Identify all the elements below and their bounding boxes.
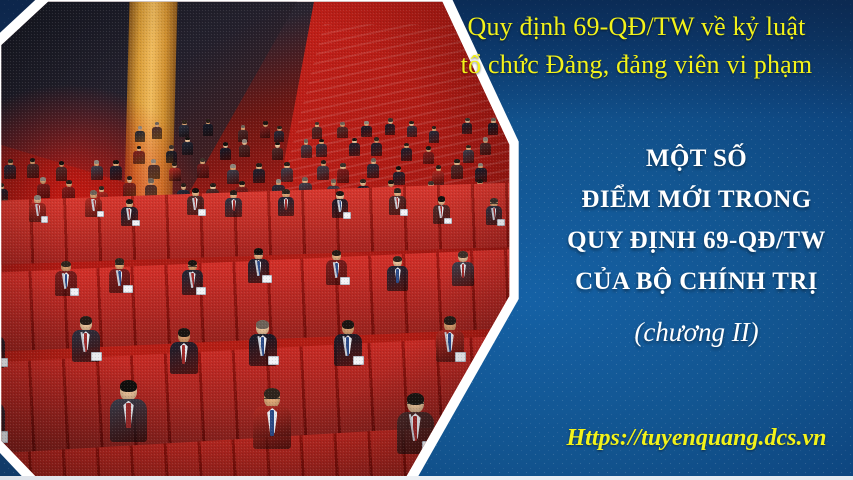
crowd-person-hair: [120, 380, 137, 392]
crowd-person-badge: [422, 441, 436, 453]
crowd-person-tie: [126, 403, 130, 428]
crowd-person-glasses: [264, 398, 281, 402]
main-title-line-1: MỘT SỐ: [540, 138, 853, 179]
crowd-person-badge: [0, 431, 8, 443]
crowd-person-glasses: [407, 403, 424, 407]
headline-block: Quy định 69-QĐ/TW về kỷ luật tổ chức Đản…: [424, 8, 849, 84]
website-url[interactable]: Https://tuyenquang.dcs.vn: [540, 425, 853, 452]
bottom-strip: [0, 476, 853, 480]
chapter-label: (chương II): [540, 312, 853, 352]
main-title-line-2: ĐIỂM MỚI TRONG: [540, 179, 853, 220]
crowd-person-tie: [270, 410, 274, 435]
main-title-line-4: CỦA BỘ CHÍNH TRỊ: [540, 261, 853, 302]
main-title-block: MỘT SỐ ĐIỂM MỚI TRONG QUY ĐỊNH 69-QĐ/TW …: [540, 138, 853, 302]
headline-line-2: tổ chức Đảng, đảng viên vi phạm: [424, 46, 849, 84]
poster-canvas: Quy định 69-QĐ/TW về kỷ luật tổ chức Đản…: [0, 0, 853, 480]
main-title-line-3: QUY ĐỊNH 69-QĐ/TW: [540, 220, 853, 261]
headline-line-1: Quy định 69-QĐ/TW về kỷ luật: [424, 8, 849, 46]
